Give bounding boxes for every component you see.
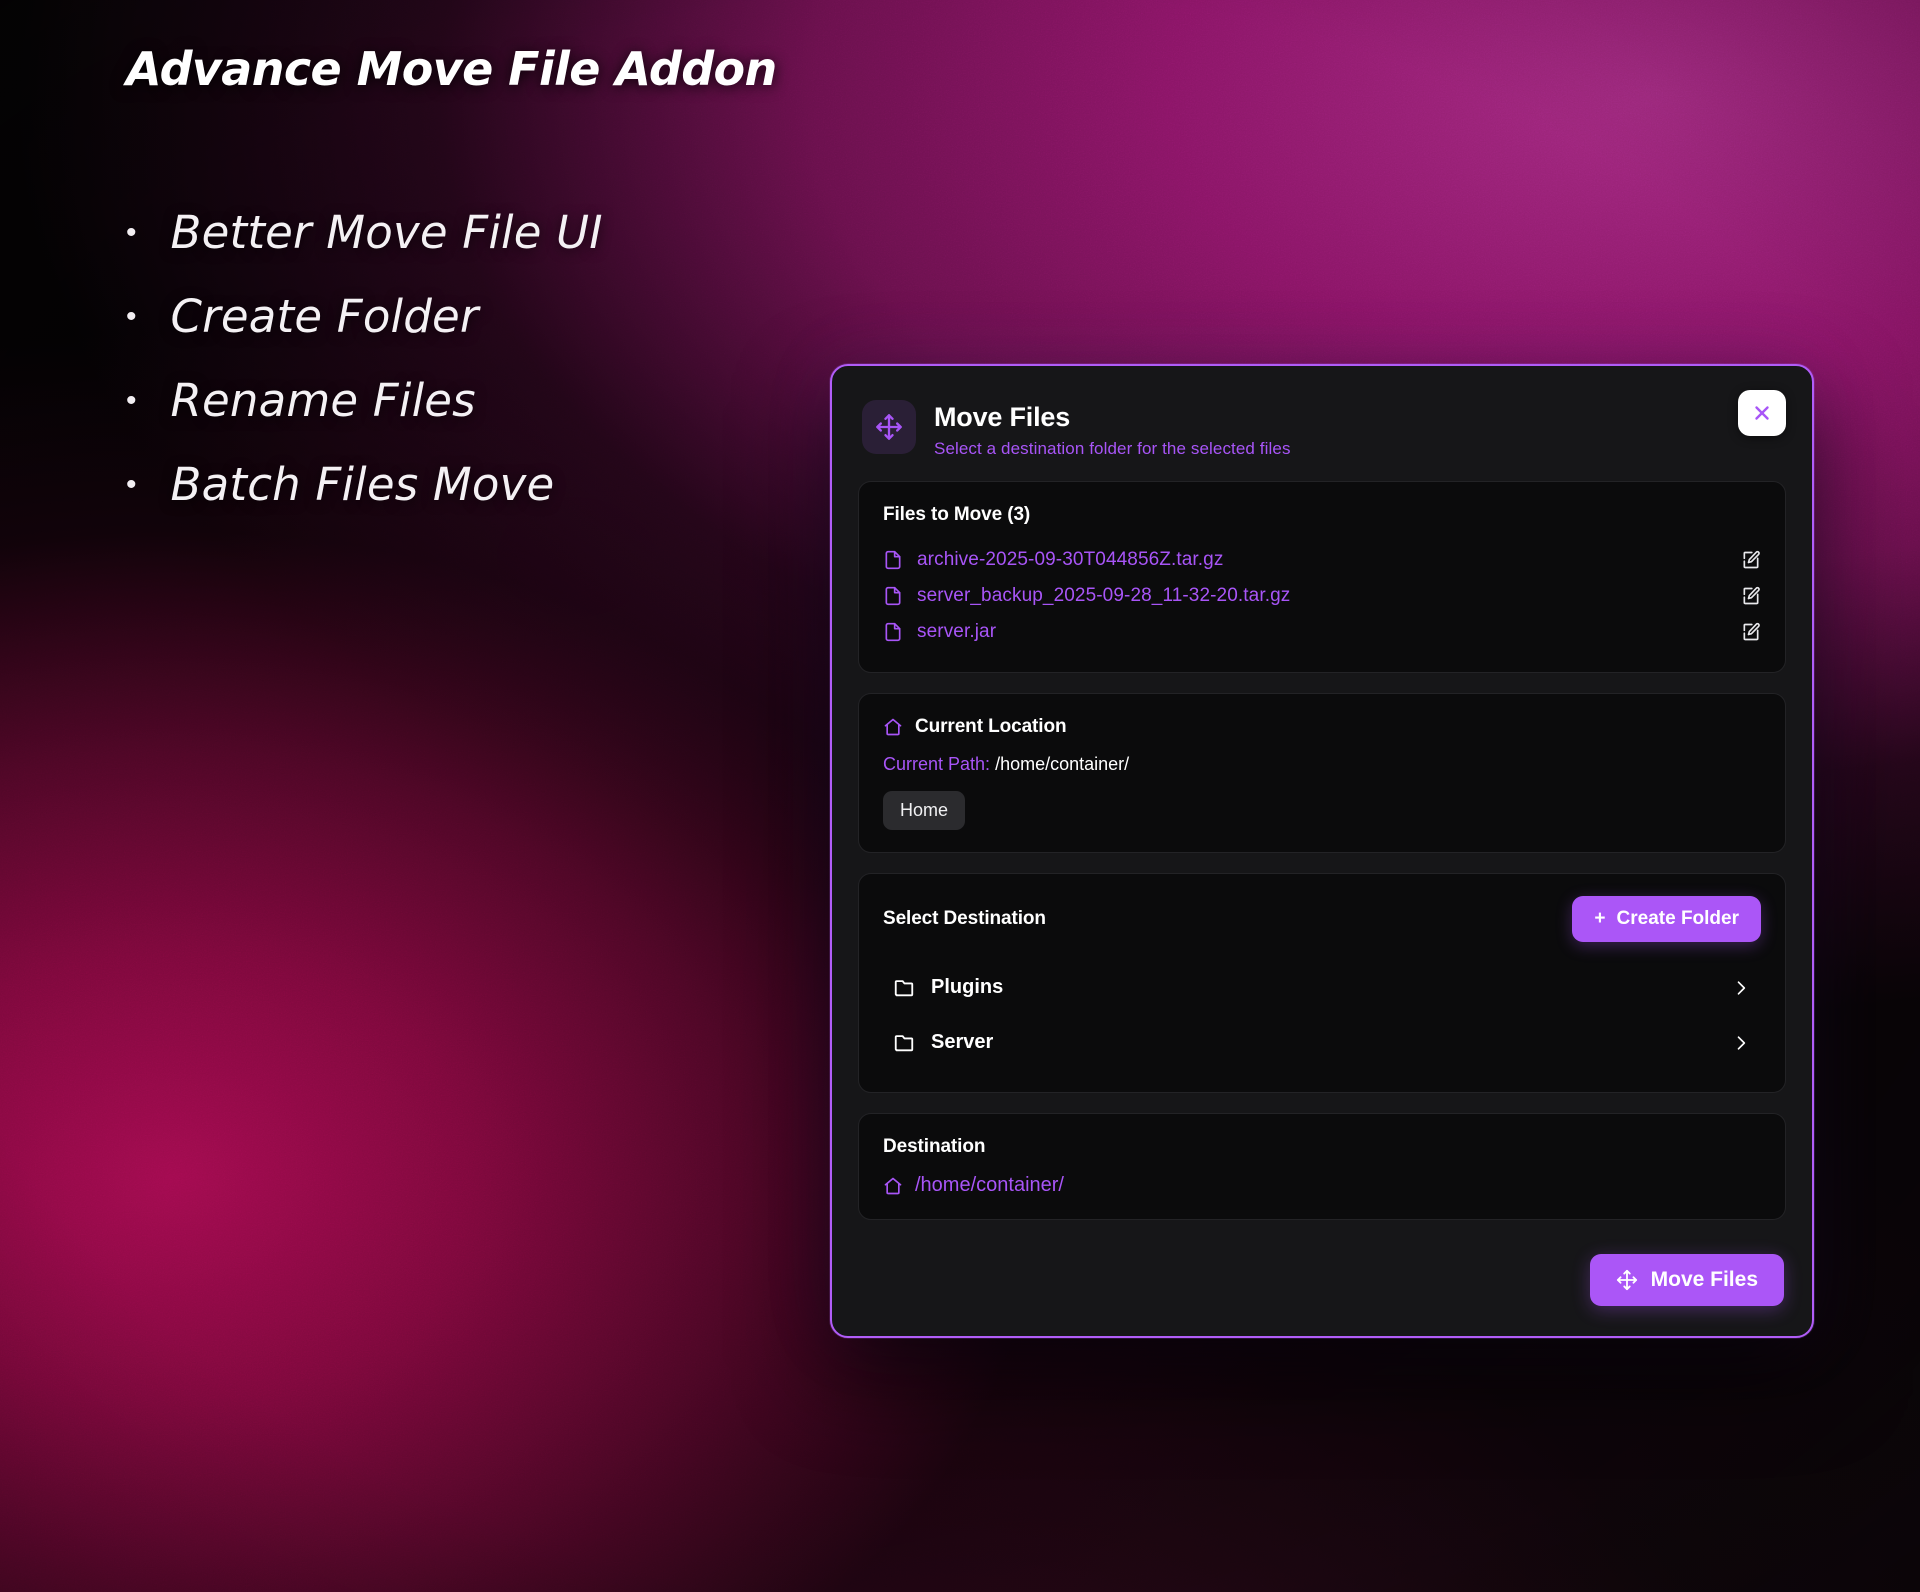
list-item: • Batch Files Move: [126, 458, 826, 511]
current-location-card: Current Location Current Path: /home/con…: [858, 693, 1786, 853]
move-files-button[interactable]: Move Files: [1590, 1254, 1784, 1306]
folder-name: Server: [931, 1031, 1715, 1054]
modal-header-text: Move Files Select a destination folder f…: [934, 400, 1291, 459]
home-icon: [883, 1176, 903, 1196]
destination-value-row: /home/container/: [883, 1174, 1761, 1197]
folder-row-plugins[interactable]: Plugins: [883, 960, 1761, 1015]
destination-card: Destination /home/container/: [858, 1113, 1786, 1220]
plus-icon: +: [1594, 908, 1605, 930]
files-to-move-card: Files to Move (3) archive-2025-09-30T044…: [858, 481, 1786, 673]
move-files-modal: Move Files Select a destination folder f…: [830, 364, 1814, 1338]
bullet-icon: •: [126, 386, 137, 416]
feature-list: • Better Move File UI • Create Folder • …: [126, 206, 826, 511]
rename-file-icon[interactable]: [1741, 622, 1761, 642]
close-button[interactable]: [1738, 390, 1786, 436]
current-path: Current Path: /home/container/: [883, 754, 1761, 775]
move-icon: [1616, 1269, 1638, 1291]
files-to-move-title: Files to Move (3): [883, 504, 1761, 526]
file-row[interactable]: server.jar: [883, 614, 1761, 650]
feature-label: Create Folder: [171, 290, 479, 343]
current-location-title-row: Current Location: [883, 716, 1761, 738]
bullet-icon: •: [126, 302, 137, 332]
feature-label: Rename Files: [171, 374, 476, 427]
file-list: archive-2025-09-30T044856Z.tar.gz: [883, 542, 1761, 650]
move-files-label: Move Files: [1651, 1268, 1758, 1292]
modal-footer: Move Files: [858, 1240, 1786, 1310]
rename-file-icon[interactable]: [1741, 550, 1761, 570]
folder-icon: [893, 1032, 915, 1054]
folder-row-server[interactable]: Server: [883, 1015, 1761, 1070]
file-icon: [883, 586, 903, 606]
current-path-label: Current Path:: [883, 754, 990, 774]
select-destination-header: Select Destination + Create Folder: [883, 896, 1761, 942]
file-row[interactable]: archive-2025-09-30T044856Z.tar.gz: [883, 542, 1761, 578]
file-name: archive-2025-09-30T044856Z.tar.gz: [917, 549, 1727, 571]
file-row[interactable]: server_backup_2025-09-28_11-32-20.tar.gz: [883, 578, 1761, 614]
bullet-icon: •: [126, 218, 137, 248]
bullet-icon: •: [126, 470, 137, 500]
select-destination-card: Select Destination + Create Folder Plugi…: [858, 873, 1786, 1093]
close-icon: [1751, 402, 1773, 424]
breadcrumb: Home: [883, 791, 1761, 830]
home-icon: [883, 717, 903, 737]
move-icon: [862, 400, 916, 454]
list-item: • Rename Files: [126, 374, 826, 427]
file-icon: [883, 622, 903, 642]
modal-header: Move Files Select a destination folder f…: [858, 390, 1786, 481]
create-folder-button[interactable]: + Create Folder: [1572, 896, 1761, 942]
breadcrumb-item-home[interactable]: Home: [883, 791, 965, 830]
file-name: server_backup_2025-09-28_11-32-20.tar.gz: [917, 585, 1727, 607]
folder-icon: [893, 977, 915, 999]
modal-title: Move Files: [934, 402, 1291, 432]
file-icon: [883, 550, 903, 570]
current-location-title: Current Location: [915, 716, 1066, 738]
page-title: Advance Move File Addon: [126, 42, 826, 96]
create-folder-label: Create Folder: [1617, 908, 1739, 930]
folder-list: Plugins Server: [883, 960, 1761, 1070]
folder-name: Plugins: [931, 976, 1715, 999]
rename-file-icon[interactable]: [1741, 586, 1761, 606]
modal-subtitle: Select a destination folder for the sele…: [934, 439, 1291, 459]
chevron-right-icon: [1731, 978, 1751, 998]
file-name: server.jar: [917, 621, 1727, 643]
select-destination-title: Select Destination: [883, 908, 1046, 930]
list-item: • Better Move File UI: [126, 206, 826, 259]
feature-label: Batch Files Move: [171, 458, 555, 511]
destination-value: /home/container/: [915, 1174, 1064, 1197]
destination-title: Destination: [883, 1136, 1761, 1158]
current-path-value: /home/container/: [995, 754, 1129, 774]
page-root: Advance Move File Addon • Better Move Fi…: [0, 0, 1920, 1592]
marketing-copy: Advance Move File Addon • Better Move Fi…: [126, 42, 826, 542]
list-item: • Create Folder: [126, 290, 826, 343]
feature-label: Better Move File UI: [171, 206, 603, 259]
chevron-right-icon: [1731, 1033, 1751, 1053]
